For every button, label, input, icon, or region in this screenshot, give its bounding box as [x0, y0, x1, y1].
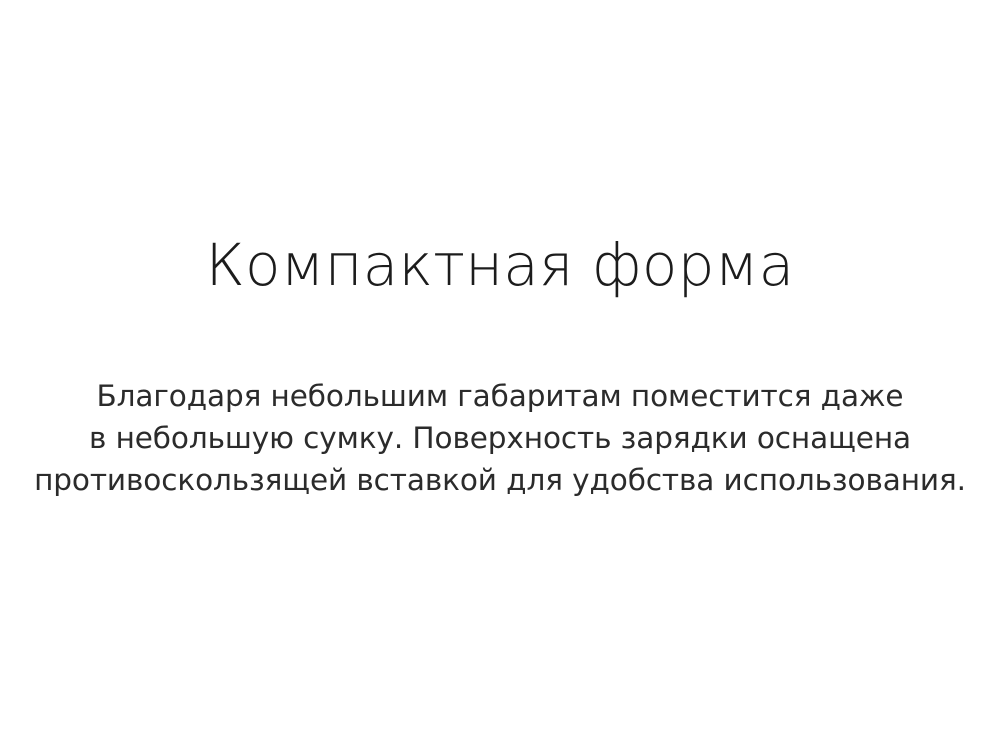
body-line: в небольшую сумку. Поверхность зарядки о…: [0, 417, 1000, 459]
body-line: противоскользящей вставкой для удобства …: [0, 459, 1000, 501]
body-line: Благодаря небольшим габаритам поместится…: [0, 375, 1000, 417]
slide-title: Компактная форма: [0, 236, 1000, 294]
slide-canvas: Компактная форма Благодаря небольшим габ…: [0, 0, 1000, 750]
slide-body-text: Благодаря небольшим габаритам поместится…: [0, 375, 1000, 501]
